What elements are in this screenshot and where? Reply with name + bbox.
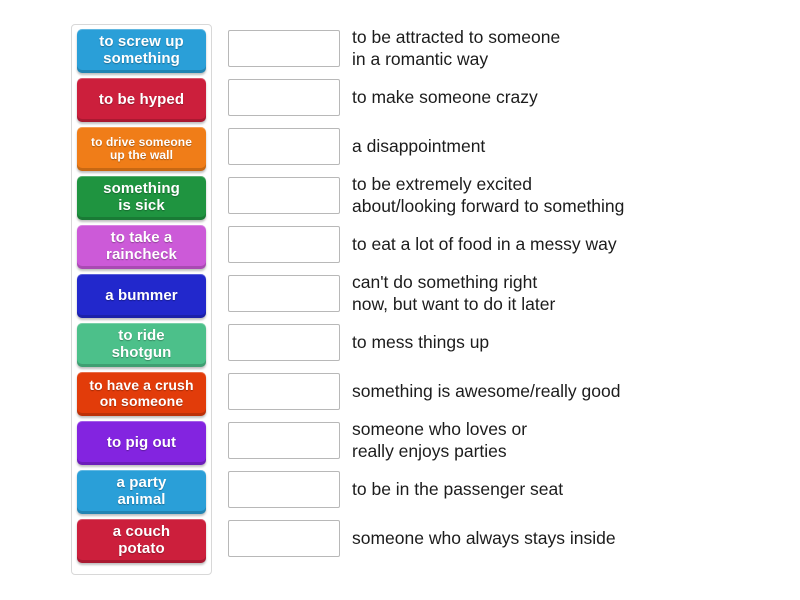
- term-tile-label: to ride shotgun: [80, 328, 203, 362]
- definition-text: to make someone crazy: [352, 86, 538, 108]
- answer-drop-box[interactable]: [228, 324, 340, 361]
- definition-text: to be attracted to someone in a romantic…: [352, 26, 560, 71]
- term-tile-label: to be hyped: [80, 92, 203, 109]
- term-tile-label: to have a crush on someone: [80, 378, 203, 409]
- answer-row: something is awesome/really good: [228, 368, 768, 414]
- answer-drop-box[interactable]: [228, 373, 340, 410]
- term-tile-label: to pig out: [80, 435, 203, 452]
- definition-text: a disappointment: [352, 135, 485, 157]
- term-tile-label: to screw up something: [80, 34, 203, 68]
- definition-text: to mess things up: [352, 331, 489, 353]
- answer-drop-box[interactable]: [228, 520, 340, 557]
- tile-slot: a party animal: [72, 470, 211, 516]
- term-tile[interactable]: to be hyped: [77, 78, 206, 122]
- answer-row: to mess things up: [228, 319, 768, 365]
- term-tile[interactable]: to screw up something: [77, 29, 206, 73]
- tile-slot: something is sick: [72, 176, 211, 222]
- answer-row: someone who loves or really enjoys parti…: [228, 417, 768, 463]
- term-tile[interactable]: to have a crush on someone: [77, 372, 206, 416]
- term-tile-label: a bummer: [80, 288, 203, 305]
- answer-drop-box[interactable]: [228, 30, 340, 67]
- answer-drop-box[interactable]: [228, 128, 340, 165]
- answer-drop-box[interactable]: [228, 471, 340, 508]
- answer-drop-box[interactable]: [228, 177, 340, 214]
- tile-slot: a bummer: [72, 274, 211, 320]
- term-tile[interactable]: to pig out: [77, 421, 206, 465]
- answer-drop-box[interactable]: [228, 226, 340, 263]
- definition-text: to be in the passenger seat: [352, 478, 563, 500]
- definition-text: to eat a lot of food in a messy way: [352, 233, 617, 255]
- term-tile-label: to take a raincheck: [80, 230, 203, 264]
- answer-row: to be extremely excited about/looking fo…: [228, 172, 768, 218]
- tile-slot: to take a raincheck: [72, 225, 211, 271]
- answer-row: to be attracted to someone in a romantic…: [228, 25, 768, 71]
- tile-slot: to screw up something: [72, 29, 211, 75]
- definition-text: something is awesome/really good: [352, 380, 620, 402]
- match-up-activity: to screw up somethingto be hypedto drive…: [0, 0, 800, 600]
- term-tile-label: a couch potato: [80, 524, 203, 558]
- answer-row: to make someone crazy: [228, 74, 768, 120]
- term-tile[interactable]: to ride shotgun: [77, 323, 206, 367]
- term-tile[interactable]: to take a raincheck: [77, 225, 206, 269]
- answer-drop-box[interactable]: [228, 275, 340, 312]
- definition-text: someone who loves or really enjoys parti…: [352, 418, 527, 463]
- term-tiles-panel: to screw up somethingto be hypedto drive…: [71, 24, 212, 575]
- tile-slot: to have a crush on someone: [72, 372, 211, 418]
- tile-slot: to ride shotgun: [72, 323, 211, 369]
- term-tile[interactable]: to drive someone up the wall: [77, 127, 206, 171]
- definition-rows-panel: to be attracted to someone in a romantic…: [228, 25, 768, 564]
- definition-text: can't do something right now, but want t…: [352, 271, 555, 316]
- tile-slot: to drive someone up the wall: [72, 127, 211, 173]
- answer-row: to eat a lot of food in a messy way: [228, 221, 768, 267]
- answer-row: a disappointment: [228, 123, 768, 169]
- term-tile[interactable]: something is sick: [77, 176, 206, 220]
- term-tile-label: to drive someone up the wall: [80, 136, 203, 163]
- answer-drop-box[interactable]: [228, 79, 340, 116]
- definition-text: someone who always stays inside: [352, 527, 616, 549]
- tile-slot: to be hyped: [72, 78, 211, 124]
- answer-drop-box[interactable]: [228, 422, 340, 459]
- tile-slot: to pig out: [72, 421, 211, 467]
- term-tile-label: something is sick: [80, 181, 203, 215]
- answer-row: someone who always stays inside: [228, 515, 768, 561]
- tile-slot: a couch potato: [72, 519, 211, 565]
- term-tile[interactable]: a party animal: [77, 470, 206, 514]
- term-tile[interactable]: a couch potato: [77, 519, 206, 563]
- definition-text: to be extremely excited about/looking fo…: [352, 173, 624, 218]
- term-tile[interactable]: a bummer: [77, 274, 206, 318]
- answer-row: to be in the passenger seat: [228, 466, 768, 512]
- answer-row: can't do something right now, but want t…: [228, 270, 768, 316]
- term-tile-label: a party animal: [80, 475, 203, 509]
